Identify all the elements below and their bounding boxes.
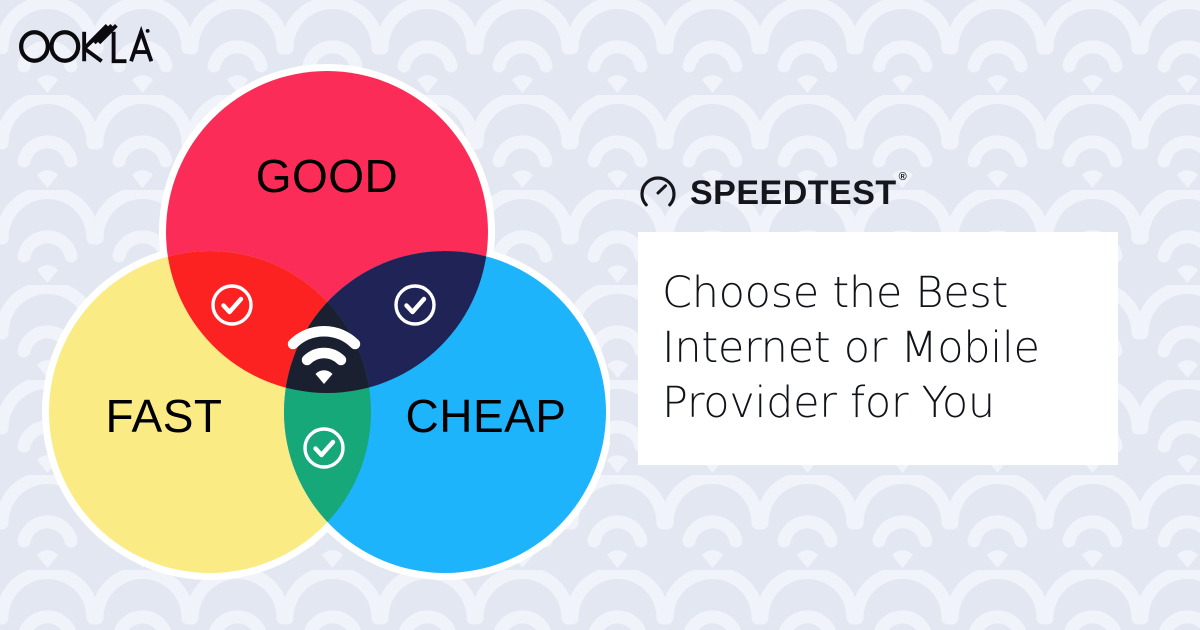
speedtest-wordmark-text: SPEEDTEST xyxy=(690,174,897,212)
page-title: Choose the Best Internet or Mobile Provi… xyxy=(662,266,1118,431)
venn-label-good: GOOD xyxy=(256,150,399,202)
ookla-logo[interactable] xyxy=(16,18,156,64)
headline-card: Choose the Best Internet or Mobile Provi… xyxy=(638,232,1118,465)
speedtest-wordmark: SPEEDTEST® xyxy=(690,176,905,210)
promo-graphic: GOOD FAST CHEAP xyxy=(0,0,1200,630)
right-content-column: SPEEDTEST® Choose the Best Internet or M… xyxy=(638,170,1138,465)
speedtest-logo[interactable]: SPEEDTEST® xyxy=(638,170,1138,216)
registered-mark: ® xyxy=(899,171,908,183)
venn-label-cheap: CHEAP xyxy=(406,390,567,442)
speedometer-icon xyxy=(638,173,678,213)
registered-mark xyxy=(146,29,150,33)
venn-label-fast: FAST xyxy=(105,390,222,442)
venn-diagram: GOOD FAST CHEAP xyxy=(40,60,610,580)
